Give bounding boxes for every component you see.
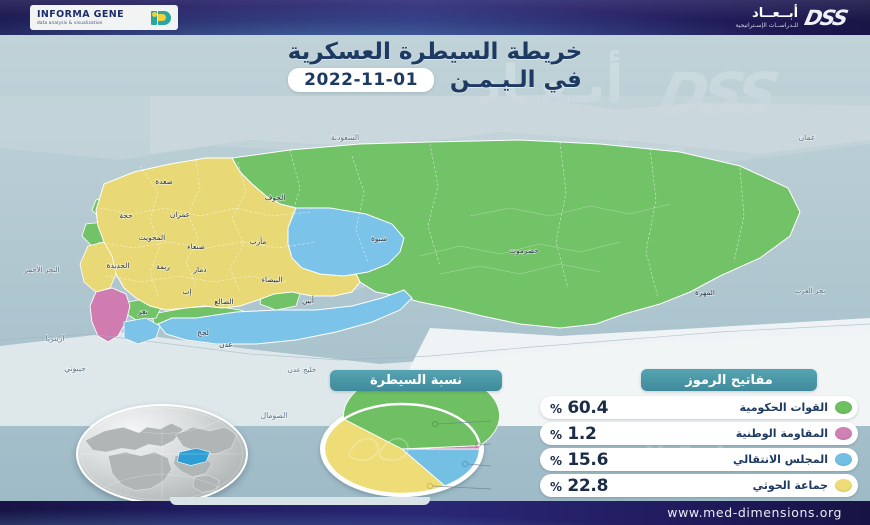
legend-label-houthi-group: جماعة الحوثي — [753, 479, 828, 492]
svg-text:جيبوتي: جيبوتي — [64, 364, 86, 373]
percent-number-3: 22.8 — [567, 476, 608, 496]
top-bar: INFORMA GENE data analysis & visualizati… — [0, 0, 870, 35]
footer-website-url[interactable]: www.med-dimensions.org — [667, 505, 842, 520]
legend-label-transitional-council: المجلس الانتقالي — [733, 453, 828, 466]
percent-number-0: 60.4 — [567, 398, 608, 418]
title-row-2: في الـيـمـن 2022-11-01 — [0, 67, 870, 93]
title-line-2: في الـيـمـن — [450, 67, 582, 93]
svg-text:أبين: أبين — [302, 295, 314, 305]
informa-gene-mark-icon — [150, 9, 172, 27]
legend-value-government-forces: % 60.4 — [550, 398, 608, 418]
svg-text:عدن: عدن — [219, 340, 233, 349]
abaad-logo-title: أبــعــاد — [736, 7, 799, 20]
informa-gene-logo-text: INFORMA GENE data analysis & visualizati… — [34, 10, 150, 25]
percent-symbol-0: % — [550, 402, 562, 416]
svg-text:المهرة: المهرة — [695, 288, 715, 297]
legend-swatch-blue-icon — [835, 453, 852, 466]
legend-row-government-forces[interactable]: القوات الحكومية % 60.4 — [540, 396, 858, 419]
svg-text:الضالع: الضالع — [214, 297, 233, 306]
legend-value-houthi-group: % 22.8 — [550, 476, 608, 496]
percent-symbol-1: % — [550, 428, 562, 442]
abaad-logo: أبــعــاد للـدراســات الإسـتراتيجية DSS — [736, 3, 846, 32]
legend-label-national-resistance: المقاومة الوطنية — [736, 427, 828, 440]
legend-row-national-resistance[interactable]: المقاومة الوطنية % 1.2 — [540, 422, 858, 445]
svg-text:صنعاء: صنعاء — [187, 242, 205, 251]
informa-gene-logo-title: INFORMA GENE — [37, 10, 150, 20]
legend-list: القوات الحكومية % 60.4 المقاومة الوطنية … — [540, 396, 858, 497]
svg-text:البيضاء: البيضاء — [262, 275, 283, 284]
informa-gene-logo-subtitle: data analysis & visualization — [37, 21, 150, 25]
globe-locator-inset — [76, 404, 248, 504]
percent-symbol-2: % — [550, 454, 562, 468]
svg-text:تعز: تعز — [137, 307, 148, 316]
date-badge: 2022-11-01 — [288, 68, 434, 92]
footer-notch — [170, 497, 430, 505]
pie-chart-title: نسبة السيطرة — [330, 370, 502, 391]
dss-mark-icon: DSS — [803, 6, 849, 30]
legend-swatch-yellow-icon — [835, 479, 852, 492]
svg-text:السعودية: السعودية — [331, 133, 359, 142]
svg-text:خليج عدن: خليج عدن — [288, 366, 317, 374]
svg-text:عمران: عمران — [170, 210, 190, 219]
percent-number-1: 1.2 — [567, 424, 596, 444]
informa-gene-logo: INFORMA GENE data analysis & visualizati… — [30, 5, 178, 30]
svg-text:بحر العرب: بحر العرب — [795, 287, 826, 295]
abaad-logo-text: أبــعــاد للـدراســات الإسـتراتيجية — [736, 7, 799, 29]
page-title: خريطة السيطرة العسكرية في الـيـمـن 2022-… — [0, 38, 870, 93]
svg-text:حجة: حجة — [119, 211, 133, 220]
svg-text:صعدة: صعدة — [155, 177, 173, 186]
svg-text:لحج: لحج — [197, 328, 209, 337]
svg-text:الجوف: الجوف — [265, 193, 286, 202]
legend-title: مفاتيح الرموز — [641, 369, 817, 391]
svg-text:الحديدة: الحديدة — [107, 261, 130, 270]
control-share-pie-chart — [315, 398, 490, 500]
svg-text:الصومال: الصومال — [261, 411, 288, 420]
svg-text:إب: إب — [182, 287, 191, 296]
legend-swatch-pink-icon — [835, 427, 852, 440]
legend-value-national-resistance: % 1.2 — [550, 424, 597, 444]
footer-bar: www.med-dimensions.org — [0, 501, 870, 525]
legend-value-transitional-council: % 15.6 — [550, 450, 608, 470]
infographic-poster: أبـعـاد DSS — [0, 0, 870, 525]
svg-text:مأرب: مأرب — [250, 236, 267, 246]
svg-text:البحر الأحمر: البحر الأحمر — [24, 265, 60, 274]
legend-row-houthi-group[interactable]: جماعة الحوثي % 22.8 — [540, 474, 858, 497]
percent-number-2: 15.6 — [567, 450, 608, 470]
svg-text:ذمار: ذمار — [192, 265, 206, 274]
svg-text:شبوة: شبوة — [371, 234, 387, 243]
legend-row-transitional-council[interactable]: المجلس الانتقالي % 15.6 — [540, 448, 858, 471]
percent-symbol-3: % — [550, 480, 562, 494]
svg-text:اريتريا: اريتريا — [46, 334, 65, 343]
svg-text:عمان: عمان — [799, 133, 816, 142]
svg-text:المحويت: المحويت — [139, 233, 165, 242]
legend-swatch-green-icon — [835, 401, 852, 414]
title-line-1: خريطة السيطرة العسكرية — [0, 38, 870, 66]
svg-text:حضرموت: حضرموت — [509, 246, 539, 255]
abaad-logo-subtitle: للـدراســات الإسـتراتيجية — [736, 23, 799, 29]
legend-label-government-forces: القوات الحكومية — [740, 401, 828, 414]
svg-text:ريمة: ريمة — [156, 262, 170, 271]
